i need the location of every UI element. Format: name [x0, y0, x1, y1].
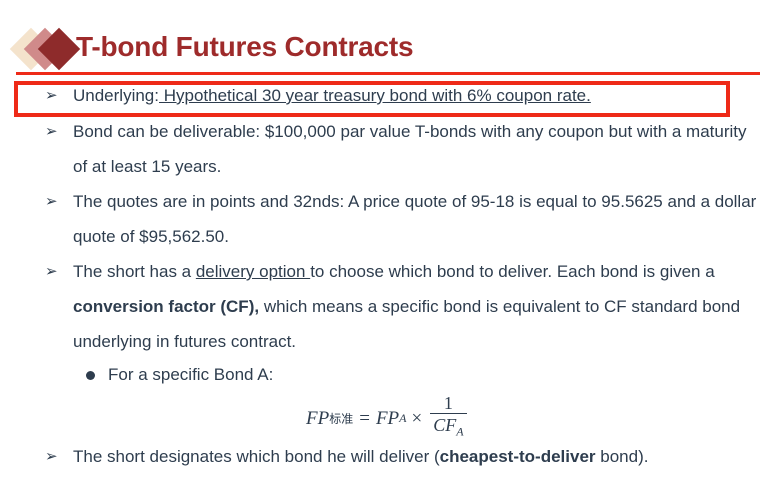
- slide-title-block: T-bond Futures Contracts: [0, 0, 775, 76]
- formula-denominator-symbol: CF: [433, 415, 456, 435]
- cheapest-to-deliver-bold-text: cheapest-to-deliver: [440, 447, 596, 466]
- title-divider-rule: [16, 72, 760, 75]
- formula-denominator: CFA: [430, 415, 466, 442]
- formula-lhs-subscript: 标准: [329, 410, 353, 427]
- formula-rhs-subscript: A: [399, 411, 406, 426]
- delivery-option-text-part2: to choose which bond to deliver. Each bo…: [310, 262, 715, 281]
- formula-rhs-symbol: FP: [376, 408, 399, 430]
- delivery-option-underlined-text: delivery option: [196, 262, 310, 281]
- arrow-bullet-icon: ➢: [45, 78, 63, 114]
- designates-text-part1: The short designates which bond he will …: [73, 447, 440, 466]
- arrow-bullet-icon: ➢: [45, 184, 63, 219]
- bullet-deliverable: ➢ Bond can be deliverable: $100,000 par …: [0, 114, 775, 184]
- underlying-underlined-text: Hypothetical 30 year treasury bond with …: [159, 86, 591, 105]
- delivery-option-text-part1: The short has a: [73, 262, 196, 281]
- diamond-logo-icon: [16, 28, 76, 72]
- formula-denominator-subscript: A: [456, 425, 463, 439]
- arrow-bullet-icon: ➢: [45, 439, 63, 474]
- dot-bullet-icon: [86, 371, 95, 380]
- bullet-delivery-option: ➢The short has a delivery option to choo…: [0, 254, 775, 359]
- formula-lhs-symbol: FP: [306, 408, 329, 430]
- formula-row: FP标准=FPA× 1 CFA: [0, 393, 775, 439]
- formula-numerator: 1: [441, 394, 456, 412]
- formula-fraction: 1 CFA: [430, 394, 466, 442]
- bond-a-text: For a specific Bond A:: [108, 365, 273, 384]
- bullet-designates: ➢The short designates which bond he will…: [0, 439, 775, 474]
- slide-content: ➢ Underlying: Hypothetical 30 year treas…: [0, 78, 775, 474]
- quotes-text: The quotes are in points and 32nds: A pr…: [73, 192, 756, 246]
- formula-equals: =: [359, 408, 370, 430]
- sub-bullet-bond-a: For a specific Bond A:: [0, 359, 775, 391]
- bullet-quotes: ➢ The quotes are in points and 32nds: A …: [0, 184, 775, 254]
- formula-times-operator: ×: [412, 408, 423, 430]
- designates-text-part2: bond).: [596, 447, 649, 466]
- underlying-lead-text: Underlying:: [73, 86, 159, 105]
- arrow-bullet-icon: ➢: [45, 114, 63, 149]
- bullet-underlying: ➢ Underlying: Hypothetical 30 year treas…: [0, 78, 775, 114]
- conversion-factor-formula: FP标准=FPA× 1 CFA: [306, 395, 467, 443]
- conversion-factor-bold-text: conversion factor (CF),: [73, 297, 259, 316]
- deliverable-text: Bond can be deliverable: $100,000 par va…: [73, 122, 747, 176]
- arrow-bullet-icon: ➢: [45, 254, 63, 289]
- page-title: T-bond Futures Contracts: [76, 31, 413, 63]
- formula-fraction-bar: [430, 413, 466, 414]
